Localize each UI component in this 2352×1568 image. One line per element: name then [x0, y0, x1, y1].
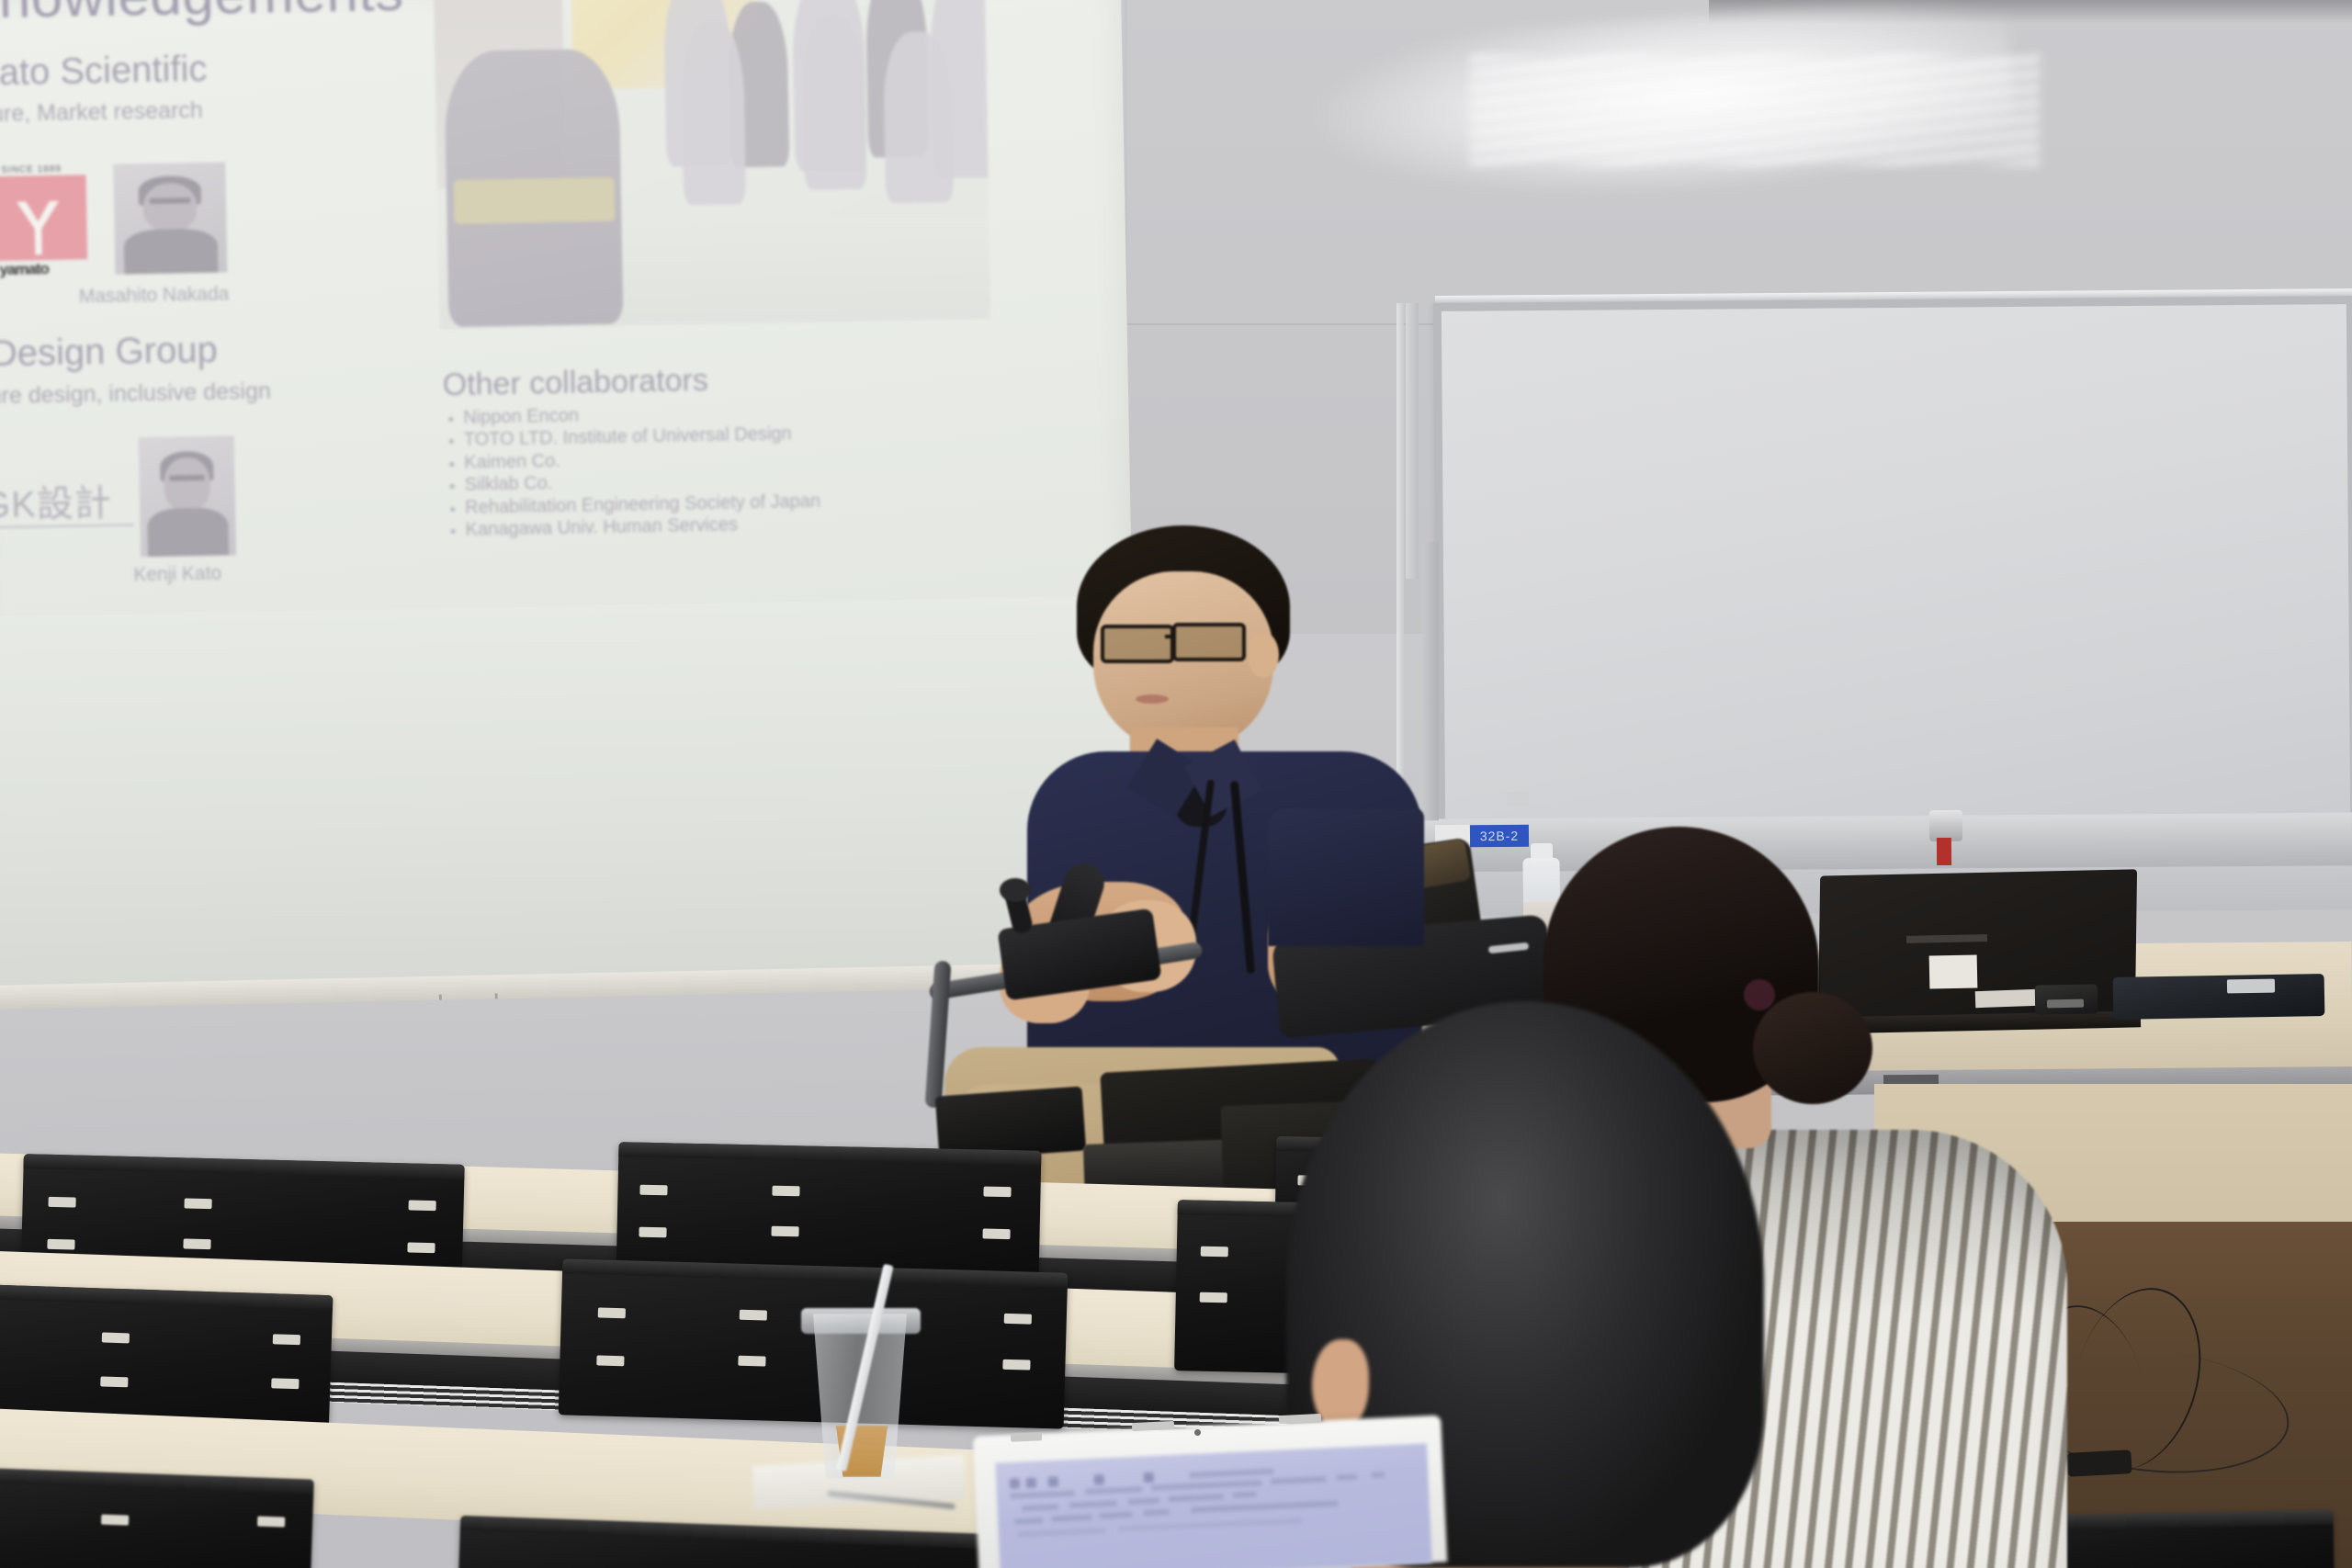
eyeglasses-icon [1101, 625, 1174, 663]
tablet-reflection [2227, 979, 2275, 994]
slide-sub-gk: Furniture design, inclusive design [0, 378, 271, 412]
tablet-device[interactable] [2113, 974, 2325, 1020]
lecture-room-photo: Acknowledgements Yamato Scientific Furni… [0, 0, 2352, 1568]
presenter-mouth [1136, 694, 1169, 704]
back-laptop-sticker [1929, 954, 1978, 988]
hair-bun [1753, 992, 1872, 1104]
yamato-y-mark [17, 201, 60, 255]
headshot-nakada [113, 162, 227, 274]
wheelchair-joystick-knob[interactable] [1000, 878, 1031, 902]
presenter-ear [1248, 632, 1279, 678]
desk-paper-note[interactable] [1975, 989, 2041, 1008]
eyeglasses-icon [1172, 623, 1246, 661]
headshot-kato [139, 435, 236, 557]
slide-person-kato: Kenji Kato [133, 563, 221, 587]
yamato-wordmark: yamato [0, 260, 49, 279]
slide-heading-yamato: Yamato Scientific [0, 49, 208, 96]
slide-sub-yamato: Furniture, Market research [0, 97, 203, 129]
whiteboard-smudge [1507, 792, 1529, 807]
ceiling-light-streaks [1470, 55, 2040, 165]
power-adapter-brick [2066, 1450, 2131, 1477]
whiteboard-surface [1442, 304, 2350, 822]
slide-group-photo [433, 0, 990, 329]
other-collaborators-heading: Other collaborators [442, 356, 1031, 403]
slide-title: Acknowledgements [0, 0, 404, 33]
laptop-bezel-mark [1011, 1432, 1042, 1442]
yamato-since-label: SINCE 1889 [1, 164, 62, 175]
lecture-chair[interactable] [559, 1258, 1069, 1428]
slide-person-nakada: Masahito Nakada [79, 283, 230, 308]
gk-logo: GK設計 [0, 472, 133, 528]
audience-shoulder [1268, 808, 1424, 946]
rail-red-marker [1937, 838, 1951, 865]
cup-lid[interactable] [801, 1308, 921, 1334]
yamato-logo: SINCE 1889 yamato [0, 164, 87, 276]
slide-heading-gk: GK Design Group [0, 330, 218, 377]
mobile-phone-keypad[interactable] [2047, 999, 2084, 1009]
eyeglasses-bridge [1165, 635, 1176, 638]
whiteboard [1433, 296, 2352, 830]
lecture-chair[interactable] [0, 1467, 314, 1568]
hair-tie [1744, 979, 1775, 1010]
